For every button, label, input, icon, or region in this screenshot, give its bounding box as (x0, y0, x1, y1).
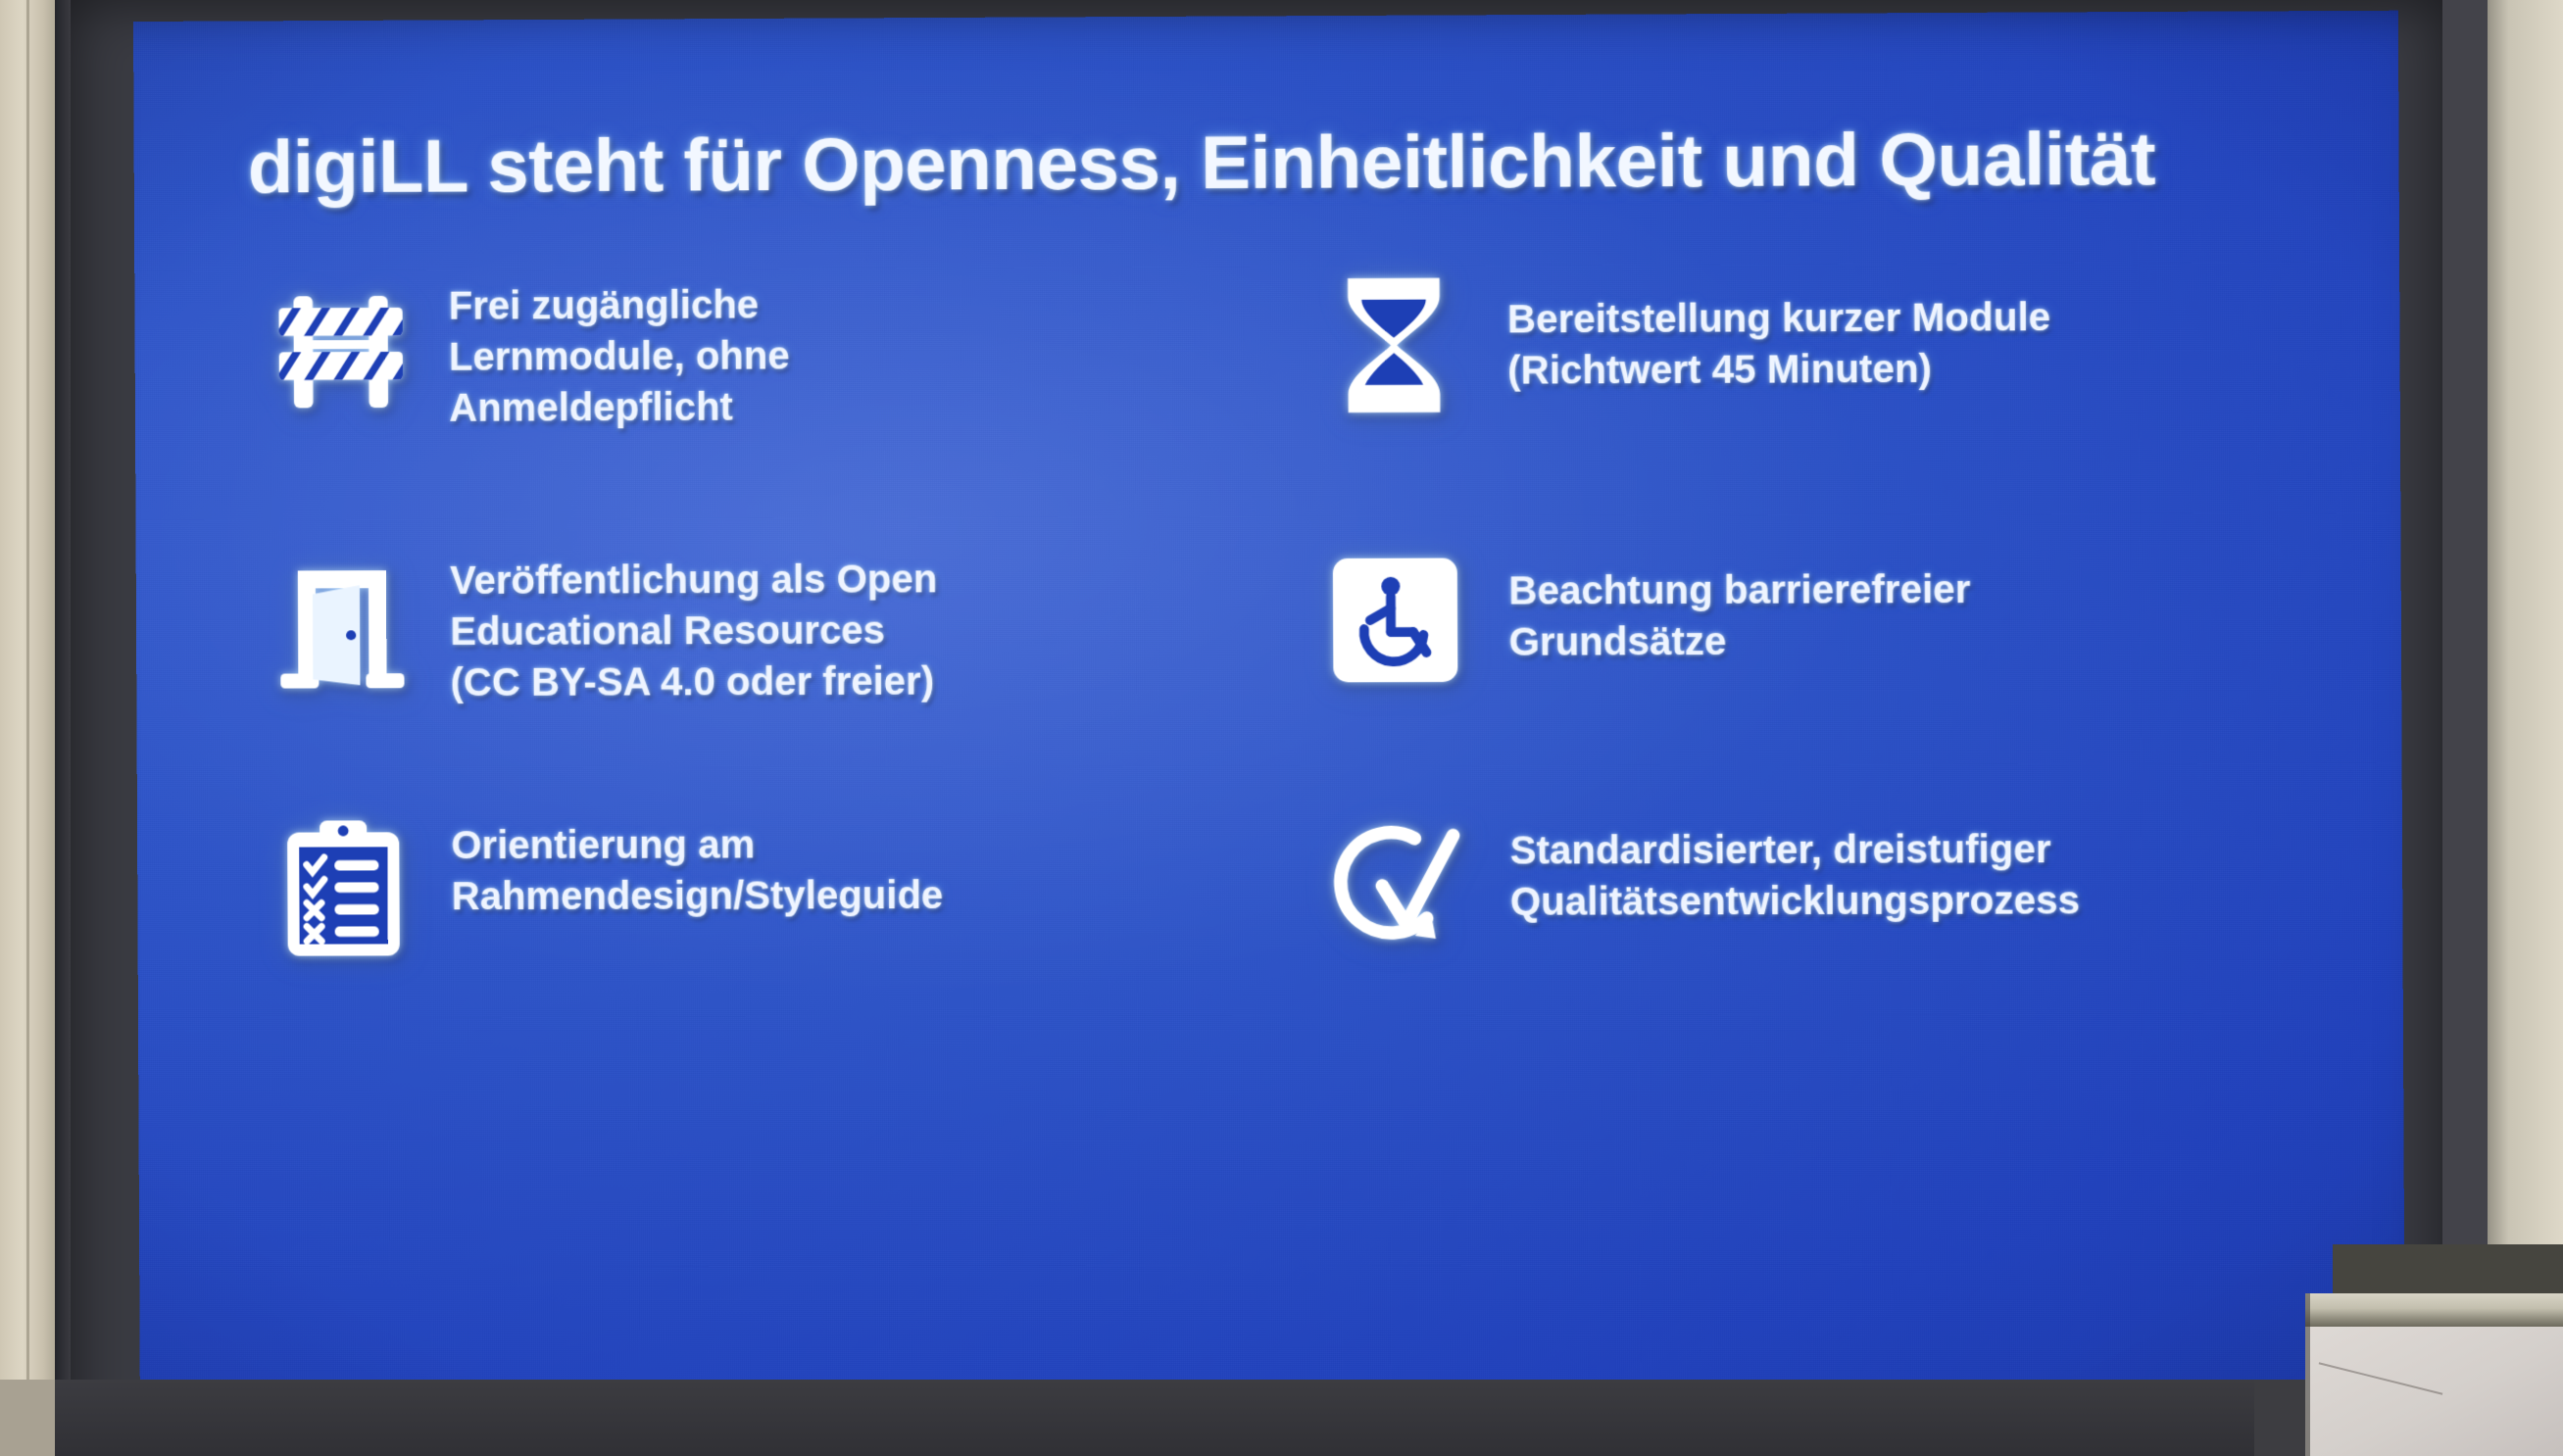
wall-seam (26, 0, 29, 1456)
feature-line: Grundsätze (1508, 615, 1970, 668)
left-wall-strip (0, 0, 55, 1456)
content-grid: Frei zugängliche Lernmodule, ohne Anmeld… (232, 258, 2339, 1246)
feature-text: Orientierung am Rahmendesign/Styleguide (451, 803, 943, 922)
projection-room-scene: digiLL steht für Openness, Einheitlichke… (0, 0, 2563, 1456)
wall-edge-dark (2442, 0, 2488, 1313)
feature-item-quality-process: Standardisierter, dreistufiger Qualitäts… (1283, 800, 2333, 969)
feature-line: Qualitätsentwicklungsprozess (1510, 875, 2080, 928)
hourglass-icon (1280, 261, 1507, 429)
feature-line: Frei zugängliche (449, 279, 790, 331)
feature-line: Beachtung barrierefreier (1508, 564, 1970, 617)
feature-item-accessibility: Beachtung barrierefreier Grundsätze (1281, 533, 2331, 704)
feature-line: (CC BY-SA 4.0 oder freier) (450, 656, 937, 709)
lower-wall-band (0, 1380, 2563, 1456)
left-column: Frei zugängliche Lernmodule, ohne Anmeld… (232, 262, 1285, 1246)
open-door-icon (234, 540, 451, 707)
feature-item-oer: Veröffentlichung als Open Educational Re… (234, 537, 1278, 709)
circular-arrow-check-icon (1283, 801, 1511, 969)
feature-text: Frei zugängliche Lernmodule, ohne Anmeld… (448, 264, 789, 434)
lower-left-wall (0, 1380, 55, 1456)
flipchart-rail (2305, 1293, 2563, 1327)
feature-line: Lernmodule, ohne (449, 330, 790, 382)
feature-item-open-access: Frei zugängliche Lernmodule, ohne Anmeld… (232, 262, 1276, 434)
barrier-icon (232, 266, 449, 433)
feature-item-styleguide: Orientierung am Rahmendesign/Styleguide (235, 802, 1279, 972)
feature-line: Rahmendesign/Styleguide (452, 870, 944, 922)
feature-line: Bereitstellung kurzer Module (1507, 292, 2050, 345)
right-column: Bereitstellung kurzer Module (Richtwert … (1280, 258, 2339, 1245)
feature-line: (Richtwert 45 Minuten) (1507, 343, 2050, 396)
paper-crease (2319, 1362, 2443, 1394)
flipchart-board (2305, 1293, 2563, 1456)
slide-title: digiLL steht für Openness, Einheitlichke… (248, 120, 2300, 207)
flipchart-edge (2305, 1293, 2310, 1456)
feature-text: Veröffentlichung als Open Educational Re… (450, 538, 938, 708)
feature-text: Beachtung barrierefreier Grundsätze (1508, 535, 1971, 668)
feature-text: Bereitstellung kurzer Module (Richtwert … (1507, 259, 2051, 397)
feature-line: Educational Resources (450, 605, 937, 657)
feature-text: Standardisierter, dreistufiger Qualitäts… (1509, 801, 2080, 928)
feature-line: Orientierung am (451, 819, 943, 871)
feature-item-short-modules: Bereitstellung kurzer Module (Richtwert … (1280, 258, 2330, 429)
feature-line: Anmeldepflicht (449, 381, 790, 433)
presentation-slide: digiLL steht für Openness, Einheitlichke… (133, 11, 2405, 1423)
wall-screen-gap (55, 0, 71, 1456)
feature-line: Veröffentlichung als Open (450, 554, 937, 607)
feature-line: Standardisierter, dreistufiger (1509, 824, 2079, 877)
clipboard-checklist-icon (235, 804, 452, 972)
wheelchair-accessibility-icon (1281, 536, 1508, 704)
flipchart-paper (2305, 1327, 2563, 1456)
